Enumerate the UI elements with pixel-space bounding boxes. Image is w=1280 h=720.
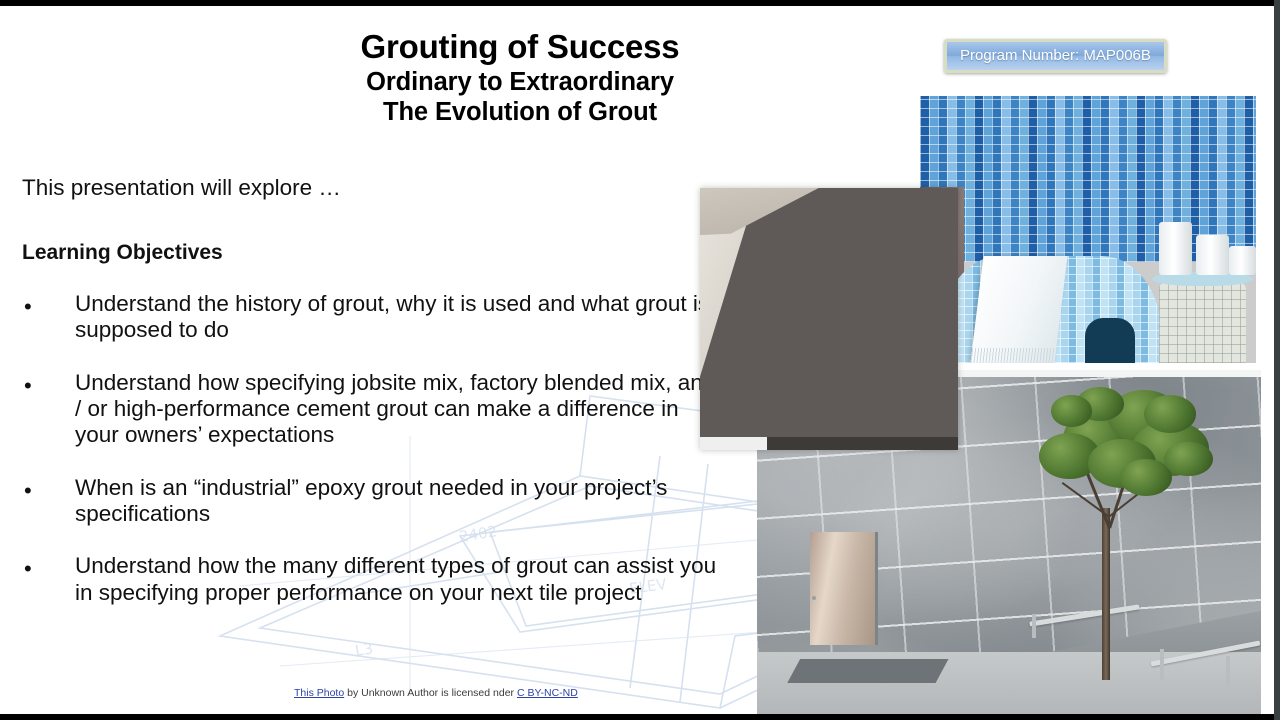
- candle-medium: [1196, 235, 1230, 275]
- list-item: • Understand the history of grout, why i…: [22, 291, 722, 344]
- tree-branch: [1061, 482, 1109, 518]
- attribution-middle-text: by Unknown Author is licensed nder: [344, 687, 517, 699]
- intro-line: This presentation will explore …: [22, 174, 722, 201]
- handrail-post-lower-2: [1226, 656, 1230, 687]
- candle-short: [1229, 246, 1256, 275]
- slide-subtitle-1: Ordinary to Extraordinary: [150, 67, 890, 98]
- candle-tall: [1159, 222, 1193, 275]
- bullet-dot-icon: •: [24, 373, 32, 399]
- learning-objectives-list: • Understand the history of grout, why i…: [22, 291, 722, 606]
- photo-attribution: This Photo by Unknown Author is licensed…: [294, 687, 578, 699]
- white-towel: [971, 256, 1068, 363]
- mosaic-bench-opening: [1085, 318, 1135, 363]
- tree-canopy: [1019, 384, 1221, 528]
- svg-text:L3: L3: [354, 639, 375, 660]
- list-item-text: Understand the history of grout, why it …: [75, 291, 709, 342]
- mosaic-stool: [1159, 283, 1246, 363]
- this-photo-link[interactable]: This Photo: [294, 687, 344, 699]
- tree-leaf-cluster: [1164, 442, 1212, 477]
- towel-fringe: [971, 348, 1057, 363]
- tree-leaf-cluster: [1051, 395, 1091, 427]
- slide-letterbox-frame: 101 1/24 A 110 2402 ELEV 06 B05 L3 Grout…: [0, 0, 1280, 720]
- bullet-dot-icon: •: [24, 294, 32, 320]
- program-number-badge: Program Number: MAP006B: [944, 39, 1167, 73]
- tree-leaf-cluster: [1144, 395, 1196, 433]
- slide-title-block: Grouting of Success Ordinary to Extraord…: [150, 28, 890, 128]
- page-title: Grouting of Success: [150, 28, 890, 66]
- list-item-text: When is an “industrial” epoxy grout need…: [75, 475, 667, 526]
- dark-tile-floor-photo: [700, 188, 958, 450]
- metal-door: [810, 532, 878, 646]
- handrail-post-lower: [1160, 649, 1164, 680]
- list-item-text: Understand how the many different types …: [75, 553, 716, 604]
- blue-mosaic-tile-spa-photo: [920, 96, 1256, 363]
- license-link[interactable]: C BY-NC-ND: [517, 687, 578, 699]
- presentation-slide: 101 1/24 A 110 2402 ELEV 06 B05 L3 Grout…: [0, 6, 1274, 714]
- door-handle: [812, 596, 817, 599]
- handrail-post-upper: [1032, 614, 1036, 638]
- learning-objectives-heading: Learning Objectives: [22, 241, 722, 265]
- slide-subtitle-2: The Evolution of Grout: [150, 97, 890, 128]
- slide-body-content: This presentation will explore … Learnin…: [22, 174, 722, 632]
- floor-bottom-edge: [700, 437, 958, 450]
- bullet-dot-icon: •: [24, 478, 32, 504]
- list-item-text: Understand how specifying jobsite mix, f…: [75, 370, 715, 448]
- right-edge-letterbox: [1274, 0, 1280, 720]
- list-item: • When is an “industrial” epoxy grout ne…: [22, 475, 722, 528]
- tree-trunk: [1102, 508, 1110, 680]
- entry-mat: [787, 659, 948, 683]
- bullet-dot-icon: •: [24, 556, 32, 582]
- list-item: • Understand how the many different type…: [22, 553, 722, 606]
- list-item: • Understand how specifying jobsite mix,…: [22, 370, 722, 449]
